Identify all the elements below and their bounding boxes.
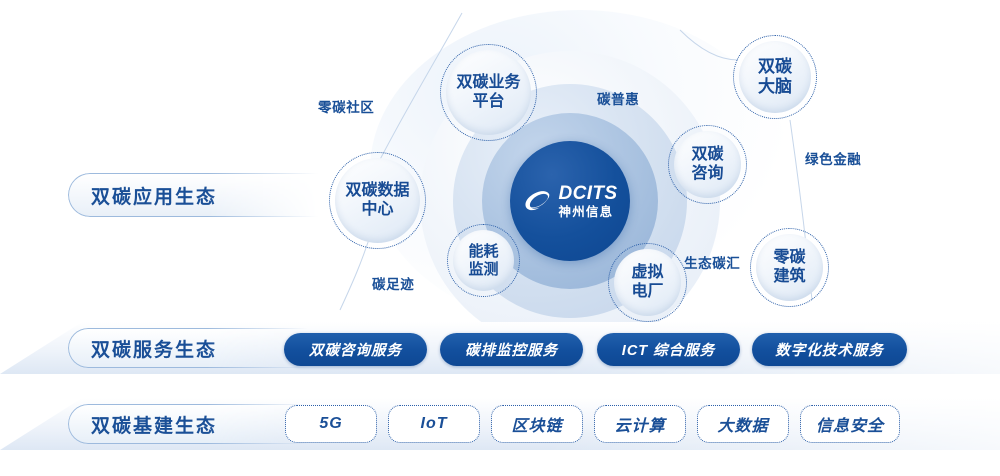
label-green-finance: 绿色金融: [805, 148, 861, 168]
diagram-canvas: DCITS 神州信息 双碳业务 平台 双碳数据 中心 能耗 监测 双碳 咨询: [0, 0, 1000, 476]
infra-chip-iot[interactable]: IoT: [388, 405, 480, 443]
node-carbon-brain[interactable]: 双碳 大脑: [733, 35, 817, 119]
infra-chip-infosec[interactable]: 信息安全: [800, 405, 900, 443]
layer-label-service: 双碳服务生态: [68, 328, 308, 368]
node-energy-monitoring[interactable]: 能耗 监测: [447, 224, 520, 297]
layer-label-application-text: 双碳应用生态: [91, 182, 217, 209]
layer-label-application: 双碳应用生态: [68, 173, 318, 217]
layer-label-infrastructure: 双碳基建生态: [68, 404, 308, 444]
node-label: 双碳 咨询: [691, 146, 723, 183]
layer-label-infrastructure-text: 双碳基建生态: [91, 411, 217, 438]
node-label: 零碳 建筑: [773, 249, 805, 286]
logo-en: DCITS: [559, 184, 618, 203]
layer-label-service-text: 双碳服务生态: [91, 335, 217, 362]
service-chip-emission-monitoring[interactable]: 碳排监控服务: [440, 333, 583, 366]
node-label: 双碳业务 平台: [456, 74, 520, 111]
label-zero-carbon-community: 零碳社区: [318, 96, 374, 116]
node-consulting[interactable]: 双碳 咨询: [668, 125, 747, 204]
logo-cn: 神州信息: [559, 206, 618, 219]
service-chip-digital-tech[interactable]: 数字化技术服务: [752, 333, 907, 366]
label-eco-carbon-sink: 生态碳汇: [684, 252, 740, 272]
infra-chip-cloud[interactable]: 云计算: [594, 405, 686, 443]
label-carbon-footprint: 碳足迹: [372, 273, 414, 293]
node-label: 双碳 大脑: [758, 57, 792, 96]
swoosh-icon: [523, 188, 553, 214]
node-label: 能耗 监测: [468, 243, 498, 278]
node-zero-carbon-building[interactable]: 零碳 建筑: [750, 228, 829, 307]
infra-chip-5g[interactable]: 5G: [285, 405, 377, 443]
service-chip-ict[interactable]: ICT 综合服务: [597, 333, 740, 366]
dcits-logo: DCITS 神州信息: [523, 184, 618, 219]
node-data-center[interactable]: 双碳数据 中心: [329, 152, 426, 249]
label-carbon-inclusion: 碳普惠: [597, 88, 639, 108]
infra-chip-blockchain[interactable]: 区块链: [491, 405, 583, 443]
node-label: 双碳数据 中心: [345, 182, 409, 219]
node-virtual-power-plant[interactable]: 虚拟 电厂: [608, 243, 687, 322]
infra-chip-bigdata[interactable]: 大数据: [697, 405, 789, 443]
node-business-platform[interactable]: 双碳业务 平台: [440, 44, 537, 141]
node-label: 虚拟 电厂: [631, 264, 663, 301]
service-chip-consulting[interactable]: 双碳咨询服务: [284, 333, 427, 366]
